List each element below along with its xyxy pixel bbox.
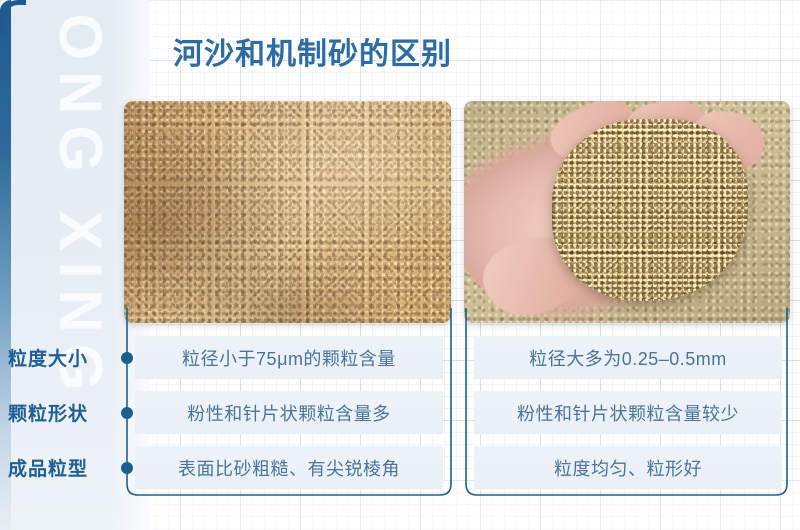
- comparison-table: 粒度大小 粒径小于75μm的颗粒含量 粒径大多为0.25–0.5mm 颗粒形状 …: [0, 330, 800, 495]
- table-row: 粒度大小 粒径小于75μm的颗粒含量 粒径大多为0.25–0.5mm: [0, 330, 800, 385]
- row-bullet-dot: [121, 407, 133, 419]
- brand-rail-corner: [0, 0, 26, 34]
- cell-manufactured-sand-grain: 粒度均匀、粒形好: [474, 446, 782, 489]
- manufactured-sand-background: [464, 101, 790, 323]
- cell-manufactured-sand-size: 粒径大多为0.25–0.5mm: [474, 336, 782, 379]
- table-row: 成品粒型 表面比砂粗糙、有尖锐棱角 粒度均匀、粒形好: [0, 440, 800, 495]
- infographic-canvas: HONG XING 河沙和机制砂的区别 粒度大小 粒径小于75μm的颗粒含量 粒…: [0, 0, 800, 530]
- row-bullet-dot: [121, 462, 133, 474]
- row-label-finished-grain: 成品粒型: [8, 440, 112, 495]
- manufactured-sand-photo: [464, 101, 790, 323]
- row-label-particle-shape: 颗粒形状: [8, 385, 112, 440]
- cell-river-sand-size: 粒径小于75μm的颗粒含量: [135, 336, 443, 379]
- table-row: 颗粒形状 粉性和针片状颗粒含量多 粉性和针片状颗粒含量较少: [0, 385, 800, 440]
- row-bullet-dot: [121, 352, 133, 364]
- cell-river-sand-grain: 表面比砂粗糙、有尖锐棱角: [135, 446, 443, 489]
- page-title: 河沙和机制砂的区别: [173, 29, 452, 73]
- row-label-particle-size: 粒度大小: [8, 330, 112, 385]
- manufactured-sand-pile: [552, 119, 748, 301]
- cell-manufactured-sand-shape: 粉性和针片状颗粒含量较少: [474, 391, 782, 434]
- river-sand-photo: [124, 101, 451, 323]
- cell-river-sand-shape: 粉性和针片状颗粒含量多: [135, 391, 443, 434]
- river-sand-texture: [124, 101, 451, 323]
